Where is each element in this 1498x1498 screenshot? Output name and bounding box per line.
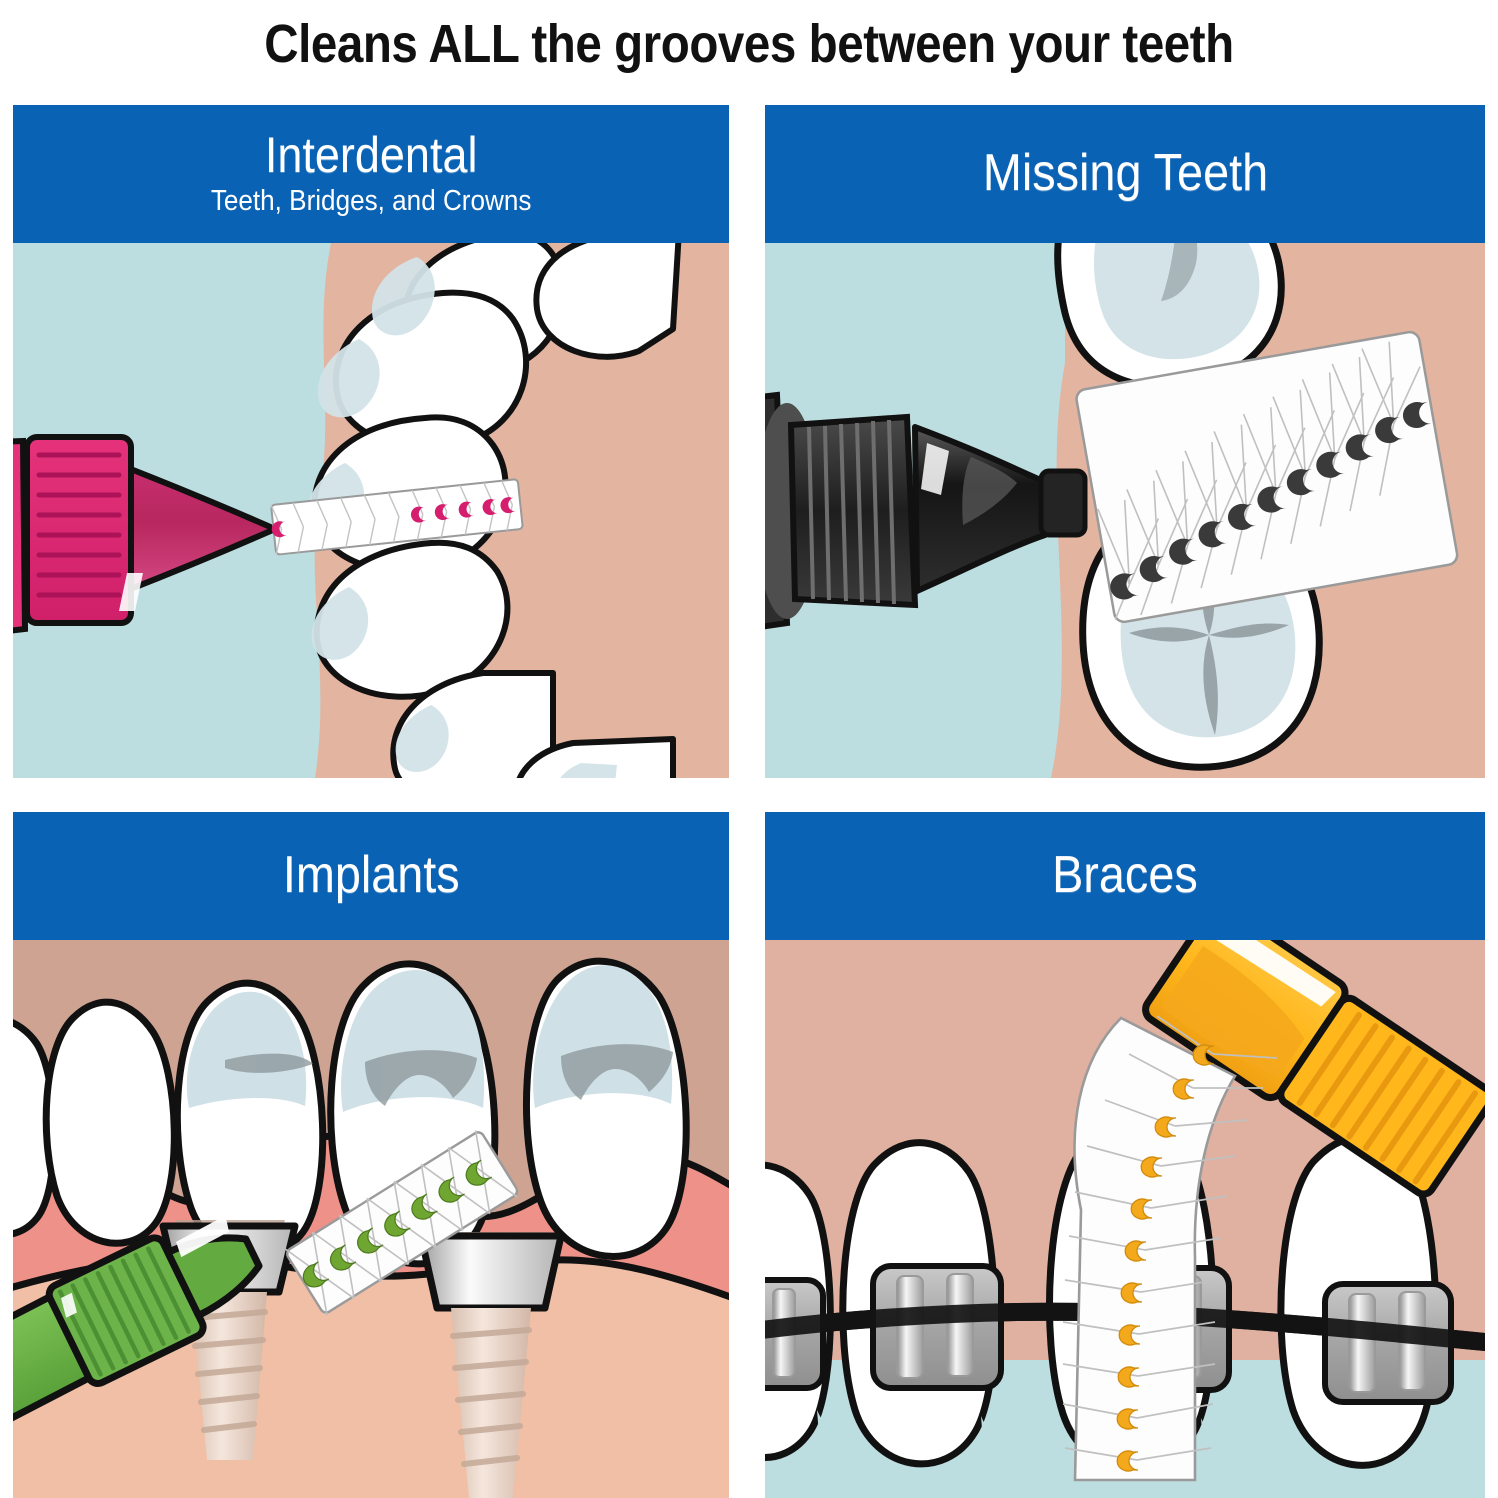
panel-implants: Implants [13,812,729,1498]
panel-interdental: Interdental Teeth, Bridges, and Crowns [13,105,729,778]
panel-subtitle-interdental: Teeth, Bridges, and Crowns [211,185,532,218]
panel-braces: Braces [765,812,1485,1498]
page-title: Cleans ALL the grooves between your teet… [90,0,1408,88]
panel-header-interdental: Interdental Teeth, Bridges, and Crowns [13,105,729,243]
panel-title-interdental: Interdental [265,130,478,181]
braces-illustration [765,940,1485,1498]
panel-title-braces: Braces [1052,849,1198,902]
infographic-root: Cleans ALL the grooves between your teet… [0,0,1498,1498]
panel-header-braces: Braces [765,812,1485,940]
implants-illustration [13,940,729,1498]
panel-missing-teeth: Missing Teeth [765,105,1485,778]
panel-title-implants: Implants [283,849,460,902]
panel-header-missing-teeth: Missing Teeth [765,105,1485,243]
interdental-illustration [13,243,729,778]
panel-header-implants: Implants [13,812,729,940]
missing-teeth-illustration [765,243,1485,778]
panel-title-missing-teeth: Missing Teeth [982,147,1267,200]
